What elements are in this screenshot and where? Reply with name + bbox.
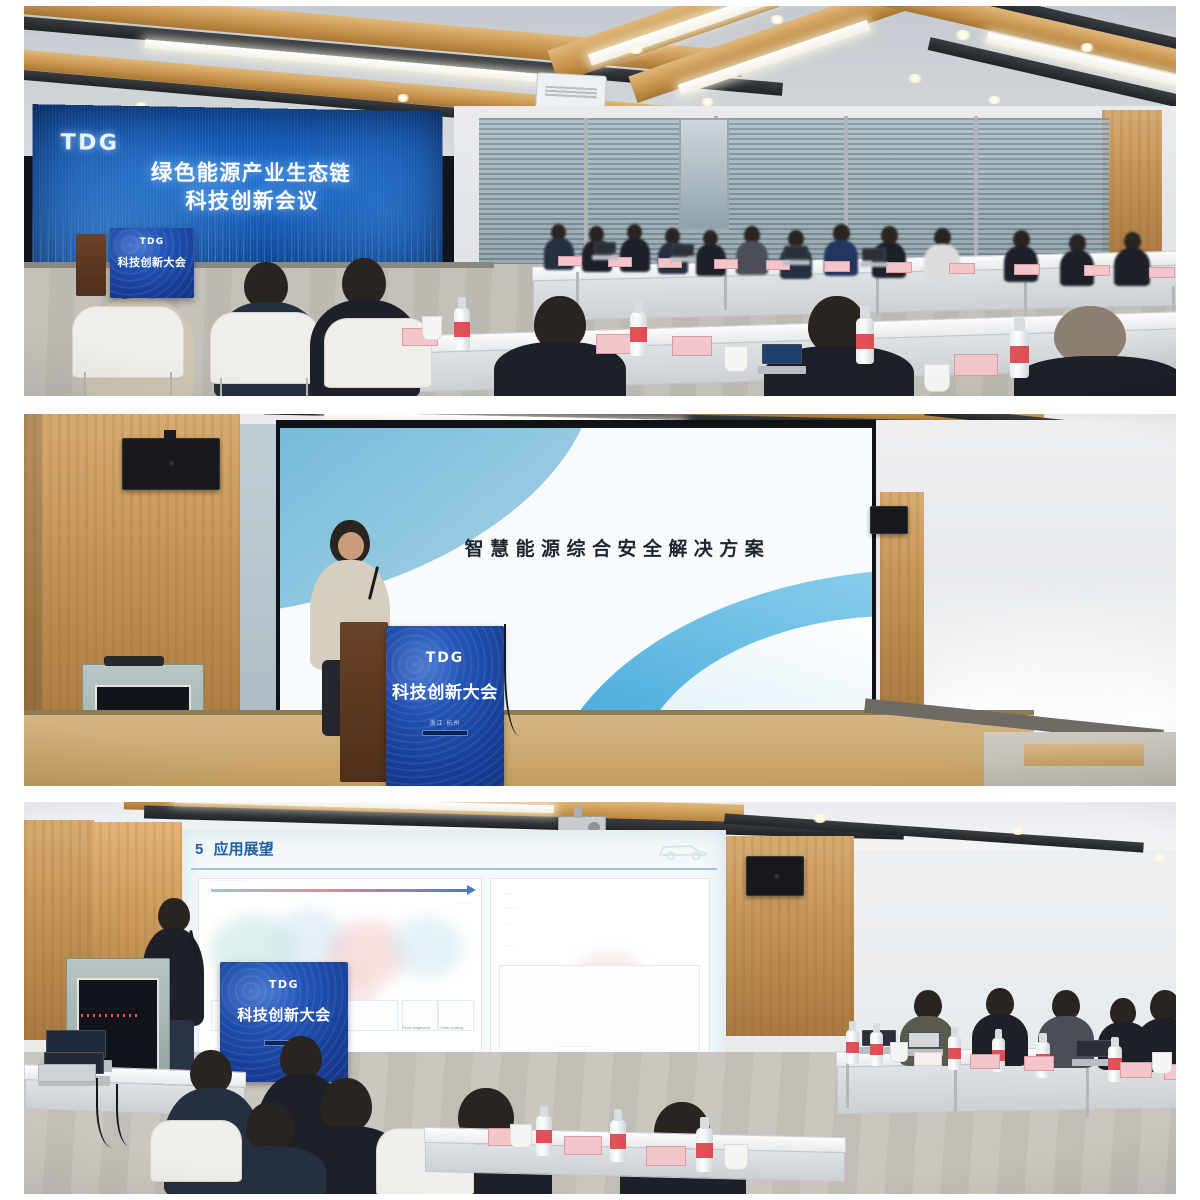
downlight (396, 94, 410, 102)
podium-banner: TDG 科技创新大会 (110, 228, 194, 298)
wood-wall-panel-edge (24, 414, 42, 754)
photo-collage: TDG 绿色能源产业生态链 科技创新会议 (0, 0, 1200, 1200)
chair (210, 312, 320, 384)
paper-cup (1152, 1052, 1172, 1074)
slide-heading: 5 应用展望 (195, 838, 274, 859)
water-bottle (846, 1030, 859, 1064)
wall-speaker-icon (746, 856, 804, 896)
water-bottle (536, 1116, 552, 1156)
car-watermark-icon (656, 839, 710, 861)
name-card (672, 336, 712, 356)
projector-mount (574, 806, 582, 818)
podium-subtitle: 浙江·杭州 (386, 718, 504, 727)
diagram-blob (391, 916, 463, 978)
name-card (886, 262, 912, 273)
tdg-logo: TDG (220, 978, 348, 991)
podium-banner: TDG 科技创新大会 浙江·杭州 (386, 626, 504, 786)
attendee (736, 226, 768, 272)
name-card (954, 354, 998, 376)
attendee (1114, 232, 1150, 284)
chair-leg (220, 378, 222, 396)
chair (72, 306, 184, 378)
podium-title: 科技创新大会 (110, 254, 194, 270)
paper-cup (724, 1144, 748, 1170)
downlight (700, 98, 715, 106)
wall-speaker-icon (122, 438, 220, 490)
downlight (907, 74, 923, 83)
chair-leg (306, 378, 308, 396)
wall-speaker-icon (870, 506, 908, 534)
attendee-foreground (1014, 306, 1176, 396)
name-card (558, 256, 582, 266)
laptop (862, 248, 886, 267)
water-bottle (454, 308, 470, 350)
name-card (914, 1052, 942, 1066)
podium-title: 科技创新大会 (386, 678, 504, 703)
tdg-logo: TDG (386, 650, 504, 666)
water-bottle (630, 312, 647, 356)
table-leg (724, 274, 727, 310)
paper-cup (510, 1124, 532, 1148)
downlight (769, 15, 785, 24)
door-frame (679, 118, 729, 230)
name-card (1024, 1056, 1054, 1071)
panel-opening-session: TDG 绿色能源产业生态链 科技创新会议 (24, 6, 1176, 396)
name-card (1084, 265, 1110, 276)
paper-cup (924, 364, 950, 392)
water-bottle (1010, 330, 1029, 378)
slide-right-panel: ....... ........... ...... ......... ...… (490, 878, 710, 1066)
paper-cup (890, 1042, 908, 1062)
downlight (954, 30, 972, 40)
downlight (812, 814, 828, 823)
table-leg (1086, 1068, 1089, 1118)
laptop (784, 246, 808, 265)
name-card (564, 1136, 602, 1155)
led-wall-title-line2: 科技创新会议 (58, 187, 433, 216)
lectern (340, 622, 388, 782)
led-wall-title-line1: 绿色能源产业生态链 (58, 159, 433, 188)
table-leg (954, 1064, 957, 1112)
slide-title: 智慧能源综合安全解决方案 (410, 534, 824, 561)
downlight (1152, 854, 1167, 862)
name-card (714, 259, 738, 269)
water-bottle (856, 318, 874, 364)
tdg-logo: TDG (61, 130, 119, 155)
downlight (1079, 43, 1095, 52)
panel-keynote-presentation: 智慧能源综合安全解决方案 (24, 414, 1176, 786)
laptop (672, 244, 694, 262)
table-leg (846, 1062, 849, 1108)
name-card (824, 261, 850, 272)
name-card (646, 1146, 686, 1166)
chair-leg (84, 372, 86, 396)
lectern (76, 234, 106, 296)
diagram-subpanel (499, 965, 700, 1054)
name-card (1120, 1062, 1152, 1078)
timeline-arrow-icon (211, 889, 470, 892)
tdg-logo: TDG (110, 237, 194, 247)
slide-section-number: 5 (195, 841, 203, 858)
name-card (1149, 267, 1175, 278)
paper-cup (422, 316, 442, 340)
downlight (627, 44, 645, 54)
tile-label-cells-sorting: Cells sorting (440, 1025, 463, 1030)
led-wall-title: 绿色能源产业生态链 科技创新会议 (58, 159, 433, 217)
name-card (949, 263, 975, 274)
podium-title: 科技创新大会 (220, 1004, 348, 1025)
slide-title: 应用展望 (214, 841, 274, 858)
chair (150, 1120, 242, 1182)
laptop (762, 344, 802, 374)
downlight (1010, 826, 1026, 835)
laptop (594, 242, 616, 260)
name-card (970, 1054, 1000, 1069)
speaker-bracket (164, 430, 176, 440)
podium-bar (422, 730, 468, 736)
water-bottle (610, 1120, 626, 1162)
name-card (1014, 264, 1040, 275)
av-equipment-box (38, 1064, 96, 1082)
mullion (974, 116, 978, 268)
water-bottle (948, 1036, 961, 1070)
panel-technical-session: 5 应用展望 ............................. ...… (24, 802, 1176, 1194)
tile-label-fault-diagnosis: Fault diagnosis (402, 1025, 430, 1030)
paper-cup (724, 346, 748, 372)
water-bottle (696, 1128, 713, 1172)
rack-top-items (104, 656, 164, 666)
attendee (1060, 234, 1094, 284)
water-bottle (870, 1032, 883, 1066)
chair-leg (170, 372, 172, 396)
downlight (987, 96, 1002, 104)
stage-step (1024, 744, 1144, 766)
